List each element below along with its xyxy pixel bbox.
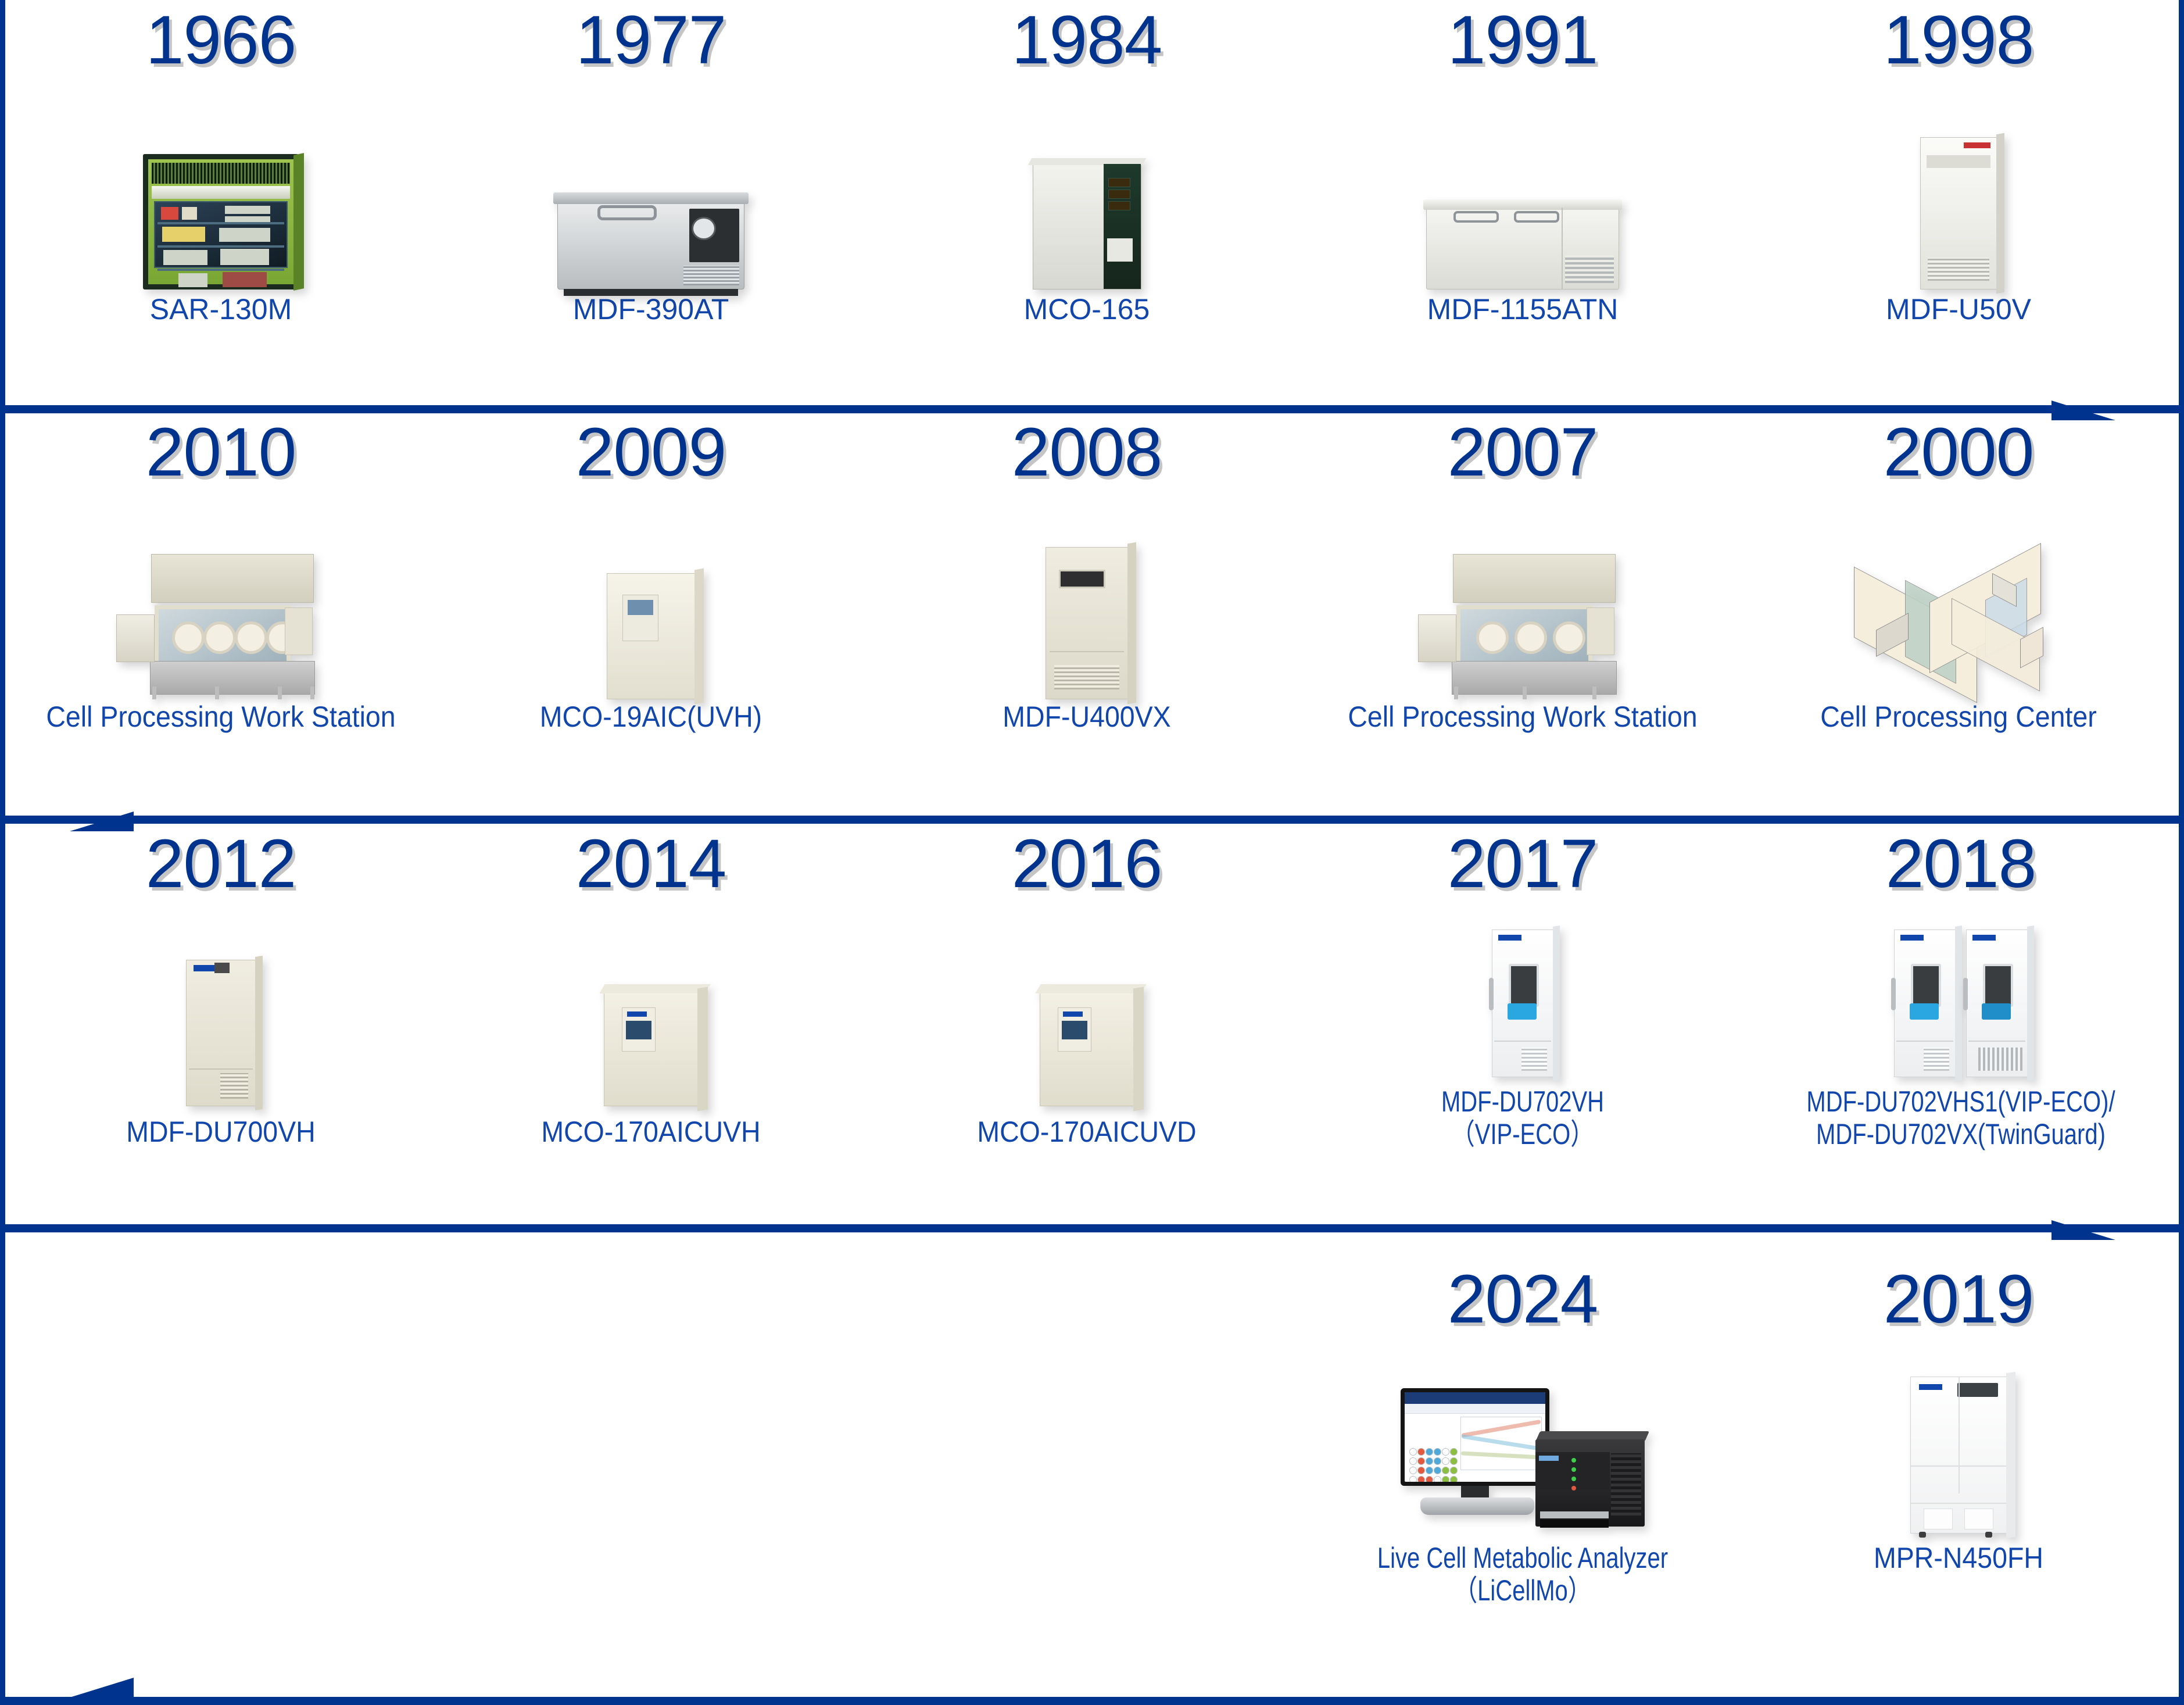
- timeline-item-2016[interactable]: 2016 MCO-170AICUVD: [866, 824, 1308, 1148]
- timeline-rule-3: [0, 1224, 2184, 1232]
- timeline-item-2007[interactable]: 2007 Cell Processing Work Station: [1302, 413, 1743, 733]
- product-image-mdf-390at: [430, 80, 872, 289]
- year-label: 2014: [430, 830, 872, 898]
- product-caption-line1: MDF-DU702VH: [1346, 1085, 1699, 1118]
- timeline-item-2010[interactable]: 2010 Cell Processin: [0, 413, 442, 733]
- product-image-mdf-du702vhs1: [1738, 903, 2184, 1077]
- product-image-mco-19aic: [430, 490, 872, 699]
- year-label: 2008: [866, 418, 1308, 487]
- product-image-mdf-du702vh: [1302, 903, 1743, 1077]
- product-caption: MDF-1155ATN: [1302, 293, 1743, 326]
- year-label: 1984: [866, 6, 1308, 74]
- product-caption-line2: MDF-DU702VX(TwinGuard): [1782, 1118, 2139, 1150]
- timeline-item-2014[interactable]: 2014 MCO-170AICUVH: [430, 824, 872, 1148]
- timeline-item-2012[interactable]: 2012 MDF-DU700VH: [0, 824, 442, 1148]
- year-label: 2019: [1738, 1265, 2179, 1334]
- product-caption: SAR-130M: [0, 293, 442, 326]
- product-image-mco-170aicuvd: [866, 903, 1308, 1106]
- timeline-rule-1: [0, 405, 2184, 413]
- product-image-mdf-u50v: [1738, 80, 2179, 289]
- product-caption-line1: MDF-DU702VHS1(VIP-ECO)/: [1782, 1085, 2139, 1118]
- timeline-item-2019[interactable]: 2019 MPR-N450FH: [1738, 1232, 2179, 1574]
- timeline-arrow-left-row4: [70, 1678, 134, 1697]
- year-label: 2024: [1302, 1265, 1743, 1334]
- timeline-item-2018[interactable]: 2018 MDF-DU702VHS1(VIP-ECO)/ MDF-DU702VX…: [1738, 824, 2184, 1150]
- timeline-item-2000[interactable]: 2000 Cell Processing Center: [1738, 413, 2179, 733]
- timeline-rule-4: [0, 1697, 2184, 1705]
- timeline-row-3: 2012 MDF-DU700VH 2014 MCO-170AICUVH 2016: [0, 824, 2184, 1228]
- product-caption: MDF-390AT: [430, 293, 872, 326]
- product-image-cpws-2010: [0, 490, 442, 699]
- timeline-item-2009[interactable]: 2009 MCO-19AIC(UVH): [430, 413, 872, 733]
- product-image-cpc-2000: [1738, 490, 2179, 699]
- year-label: 2016: [866, 830, 1308, 898]
- product-caption: MDF-U50V: [1738, 293, 2179, 326]
- timeline-row-2: 2010 Cell Processin: [0, 413, 2184, 820]
- year-label: 2017: [1302, 830, 1743, 898]
- product-caption-line2: （LiCellMo）: [1346, 1574, 1699, 1607]
- product-caption: MDF-U400VX: [882, 700, 1293, 733]
- year-label: 2012: [0, 830, 442, 898]
- timeline-item-2024[interactable]: 2024: [1302, 1232, 1743, 1607]
- timeline-item-1966[interactable]: 1966: [0, 0, 442, 326]
- product-caption: MCO-170AICUVD: [882, 1116, 1293, 1148]
- year-label: 2007: [1302, 418, 1743, 487]
- year-label: 1966: [0, 6, 442, 74]
- year-label: 2018: [1738, 830, 2184, 898]
- timeline-item-1998[interactable]: 1998 MDF-U50V: [1738, 0, 2179, 326]
- timeline-row-4: 2024: [0, 1232, 2184, 1705]
- product-caption-line1: Live Cell Metabolic Analyzer: [1346, 1542, 1699, 1574]
- product-caption: Cell Processing Center: [1753, 700, 2164, 733]
- year-label: 1977: [430, 6, 872, 74]
- product-caption: MCO-170AICUVH: [446, 1116, 857, 1148]
- product-image-mpr-n450fh: [1738, 1342, 2179, 1534]
- product-caption-line2: （VIP-ECO）: [1346, 1118, 1699, 1150]
- product-image-mdf-u400vx: [866, 490, 1308, 699]
- product-caption: MDF-DU700VH: [16, 1116, 427, 1148]
- timeline-item-1977[interactable]: 1977 MDF-390AT: [430, 0, 872, 326]
- year-label: 2000: [1738, 418, 2179, 487]
- timeline-row-1: 1966: [0, 0, 2184, 409]
- product-image-cpws-2007: [1302, 490, 1743, 699]
- year-label: 1991: [1302, 6, 1743, 74]
- product-caption: MPR-N450FH: [1753, 1542, 2164, 1574]
- product-image-mdf-du700vh: [0, 903, 442, 1106]
- timeline-item-1984[interactable]: 1984 MCO-165: [866, 0, 1308, 326]
- product-image-mco-170aicuvh: [430, 903, 872, 1106]
- product-caption: Cell Processing Work Station: [1317, 700, 1728, 733]
- year-label: 2010: [0, 418, 442, 487]
- product-image-sar-130m: [0, 80, 442, 289]
- timeline-item-2017[interactable]: 2017 MDF-DU702VH （VIP-ECO）: [1302, 824, 1743, 1150]
- timeline-board: 1966: [0, 0, 2184, 1705]
- product-caption: Cell Processing Work Station: [16, 700, 427, 733]
- product-image-licellmo: [1302, 1342, 1743, 1534]
- product-caption: MCO-19AIC(UVH): [446, 700, 857, 733]
- product-caption: MCO-165: [866, 293, 1308, 326]
- timeline-item-1991[interactable]: 1991 MDF-1155ATN: [1302, 0, 1743, 326]
- year-label: 1998: [1738, 6, 2179, 74]
- product-image-mco-165: [866, 80, 1308, 289]
- timeline-item-2008[interactable]: 2008 MDF-U400VX: [866, 413, 1308, 733]
- year-label: 2009: [430, 418, 872, 487]
- timeline-rule-2: [0, 816, 2184, 824]
- product-image-mdf-1155atn: [1302, 80, 1743, 289]
